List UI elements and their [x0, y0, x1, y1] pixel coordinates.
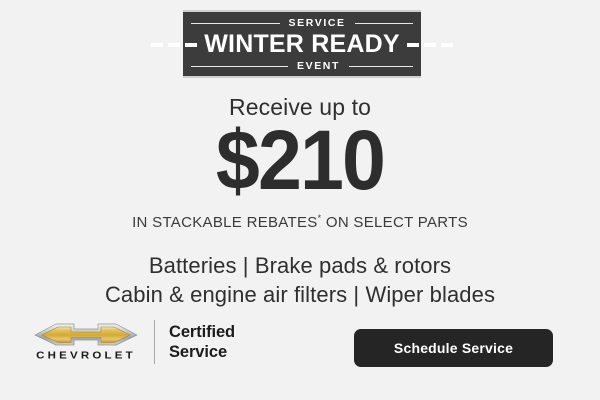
badge-top-row: SERVICE — [183, 16, 421, 30]
product-line-2: Cabin & engine air filters | Wiper blade… — [0, 280, 600, 309]
dash-icon — [441, 43, 453, 47]
dash-icon — [185, 43, 197, 47]
offer-terms-suffix: ON SELECT PARTS — [321, 214, 468, 231]
lockup-divider — [154, 320, 155, 364]
dash-group-left — [151, 43, 197, 47]
certified-line-1: Certified — [169, 322, 235, 342]
brand-lockup: CHEVROLET Certified Service — [32, 320, 235, 364]
schedule-service-button[interactable]: Schedule Service — [354, 329, 553, 367]
badge-bottom-row: EVENT — [183, 59, 421, 73]
product-line-1: Batteries | Brake pads & rotors — [0, 251, 600, 280]
chevrolet-bowtie-icon — [34, 321, 138, 348]
offer-amount: $210 — [18, 118, 582, 202]
dash-group-right — [407, 43, 453, 47]
event-badge: SERVICE WINTER READY EVENT — [183, 10, 421, 78]
chevrolet-wordmark: CHEVROLET — [36, 352, 136, 362]
badge-title-row: WINTER READY — [183, 30, 421, 59]
dash-icon — [407, 43, 419, 47]
certified-line-2: Service — [169, 342, 235, 362]
offer-terms-text: IN STACKABLE REBATES — [132, 214, 318, 231]
badge-title: WINTER READY — [204, 32, 399, 57]
badge-rule-left-top — [191, 23, 280, 24]
product-list: Batteries | Brake pads & rotors Cabin & … — [0, 251, 600, 309]
badge-rule-right-top — [355, 23, 413, 24]
certified-service-label: Certified Service — [169, 322, 235, 362]
badge-kicker-bottom: EVENT — [288, 61, 349, 72]
chevrolet-logo: CHEVROLET — [32, 321, 140, 363]
badge-rule-left-bottom — [191, 66, 288, 67]
dash-icon — [168, 43, 180, 47]
dash-icon — [424, 43, 436, 47]
offer-terms: IN STACKABLE REBATES* ON SELECT PARTS — [0, 214, 600, 231]
dash-icon — [151, 43, 163, 47]
badge-kicker-top: SERVICE — [280, 18, 355, 29]
badge-rule-right-bottom — [349, 66, 413, 67]
promo-ad: SERVICE WINTER READY EVENT Receive up to… — [0, 0, 600, 400]
